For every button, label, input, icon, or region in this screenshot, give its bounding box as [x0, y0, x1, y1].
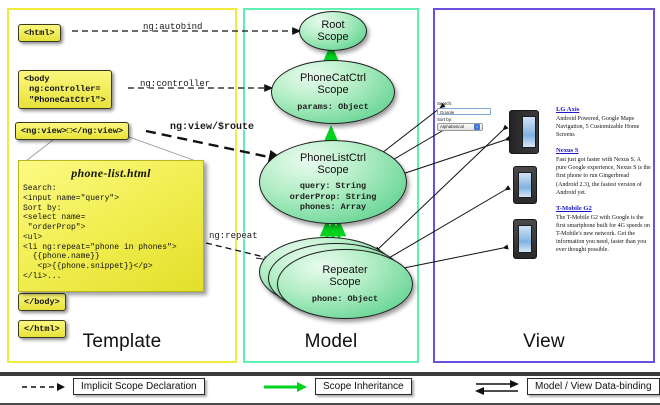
edge-label-ng-controller: ng:controller	[140, 79, 210, 89]
phone-thumbnail-lg-axis	[509, 110, 539, 154]
dashed-arrow-icon	[20, 381, 66, 393]
phone-list: LG Axis Android Powered, Google Maps Nav…	[556, 106, 652, 262]
scope-root: Root Scope	[299, 11, 367, 51]
body-close-tag: </body>	[18, 293, 66, 311]
edge-label-ng-autobind: ng:autobind	[143, 22, 202, 32]
search-input[interactable]: Google	[437, 108, 491, 115]
view-search-form: Search: Google Sort by: Alphabetical ↕	[437, 101, 497, 131]
legend-item-model-view-data-binding: Model / View Data-binding	[474, 378, 660, 395]
column-label-model: Model	[245, 331, 417, 353]
edge-label-ng-repeat: ng:repeat	[209, 231, 258, 241]
phone-thumbnail-nexus-s	[513, 166, 537, 204]
legend-top-divider	[0, 372, 660, 376]
legend-item-scope-inheritance: Scope Inheritance	[262, 378, 412, 395]
phone-thumbnail-t-mobile-g2	[513, 219, 537, 259]
green-arrow-icon	[262, 381, 308, 393]
scope-phonecatctrl: PhoneCatCtrl Scope params: Object	[271, 60, 395, 124]
html-close-tag: </html>	[18, 320, 66, 338]
scope-repeater: Repeater Scope phone: Object	[277, 249, 413, 319]
phone-link-0[interactable]: LG Axis	[556, 106, 652, 113]
scope-phonelistctrl-props: query: String orderProp: String phones: …	[290, 181, 377, 212]
sort-label: Sort by:	[437, 117, 497, 124]
sort-select-value: Alphabetical	[440, 123, 464, 131]
scope-phonelistctrl-name: PhoneListCtrl Scope	[300, 152, 366, 177]
scope-phonelistctrl: PhoneListCtrl Scope query: String orderP…	[259, 140, 407, 224]
phone-link-1[interactable]: Nexus S	[556, 147, 652, 154]
phone-snippet-1: Fast just got faster with Nexus S. A pur…	[556, 156, 652, 196]
body-tag: <body ng:controller= "PhoneCatCtrl">	[18, 70, 112, 109]
column-label-view: View	[435, 331, 653, 353]
html-open-tag: <html>	[18, 24, 61, 42]
ngview-tag: <ng:view>□</ng:view>	[15, 122, 129, 140]
sort-select[interactable]: Alphabetical ↕	[437, 123, 483, 131]
scope-repeater-props: phone: Object	[312, 294, 378, 304]
double-arrow-icon	[474, 379, 520, 395]
phone-link-2[interactable]: T-Mobile G2	[556, 205, 652, 212]
scope-repeater-name: Repeater Scope	[322, 264, 367, 289]
note-title: phone-list.html	[19, 161, 203, 184]
scope-root-name: Root Scope	[317, 19, 348, 44]
scope-phonecatctrl-props: params: Object	[297, 102, 368, 112]
diagram-stage: Template Model View	[0, 0, 660, 405]
edge-label-ng-view-route: ng:view/$route	[170, 122, 254, 133]
legend-label-model-view-data-binding: Model / View Data-binding	[527, 378, 660, 395]
legend-label-scope-inheritance: Scope Inheritance	[315, 378, 412, 395]
phone-snippet-2: The T-Mobile G2 with Google is the first…	[556, 214, 652, 254]
phone-snippet-0: Android Powered, Google Maps Navigation,…	[556, 115, 652, 139]
phone-list-note: phone-list.html Search: <input name="que…	[18, 160, 204, 292]
note-code: Search: <input name="query"> Sort by: <s…	[19, 184, 203, 282]
legend-item-implicit-scope-declaration: Implicit Scope Declaration	[20, 378, 205, 395]
chevron-down-icon: ↕	[474, 124, 480, 130]
legend: Implicit Scope Declaration Scope Inherit…	[0, 372, 660, 405]
search-label: Search:	[437, 101, 497, 108]
legend-label-implicit-scope-declaration: Implicit Scope Declaration	[73, 378, 205, 395]
scope-phonecatctrl-name: PhoneCatCtrl Scope	[300, 72, 366, 97]
